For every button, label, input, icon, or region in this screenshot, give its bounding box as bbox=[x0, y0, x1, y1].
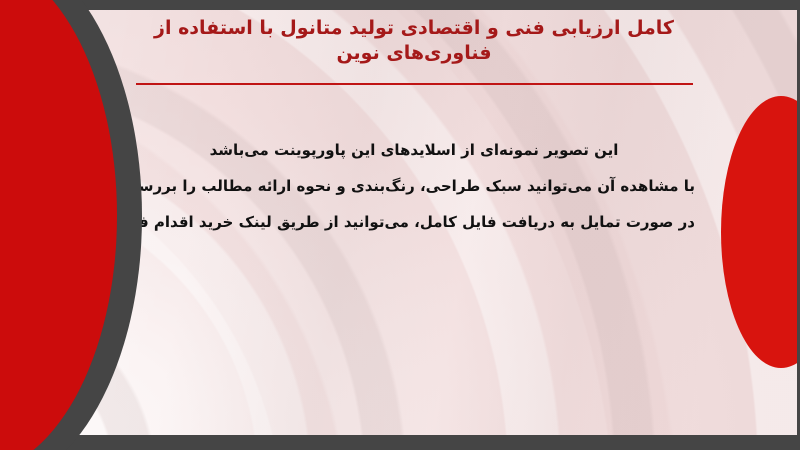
slide-title-line-1: کامل ارزیابی فنی و اقتصادی تولید متانول … bbox=[134, 16, 694, 41]
body-line-2: با مشاهده آن می‌توانید سبک طراحی، رنگ‌بن… bbox=[133, 168, 695, 204]
presentation-slide: کامل ارزیابی فنی و اقتصادی تولید متانول … bbox=[0, 0, 800, 450]
slide-title: کامل ارزیابی فنی و اقتصادی تولید متانول … bbox=[134, 16, 694, 66]
body-line-1: این تصویر نمونه‌ای از اسلایدهای این پاور… bbox=[133, 132, 695, 168]
slide-title-line-2: فناوری‌های نوین bbox=[134, 41, 694, 66]
body-line-3: در صورت تمایل به دریافت فایل کامل، می‌تو… bbox=[133, 204, 695, 240]
title-underline-rule bbox=[136, 83, 693, 85]
slide-body-text: این تصویر نمونه‌ای از اسلایدهای این پاور… bbox=[133, 132, 695, 240]
